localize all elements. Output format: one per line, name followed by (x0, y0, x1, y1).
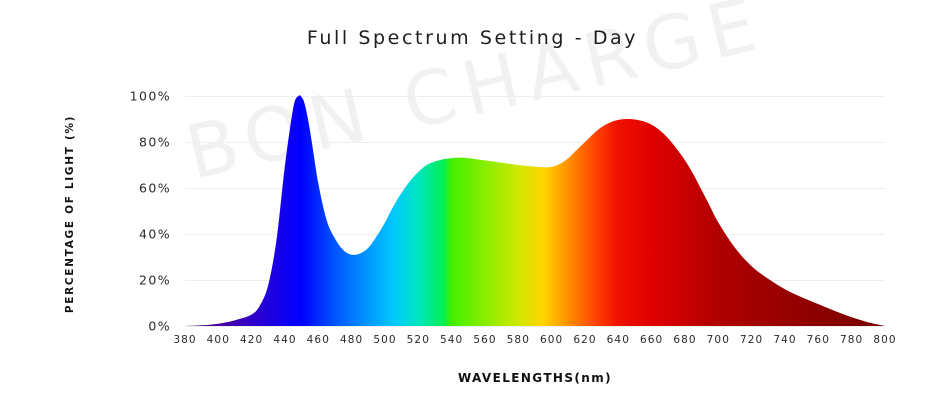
y-axis-title: PERCENTAGE OF LIGHT (%) (64, 84, 76, 344)
x-axis-tick-label: 440 (273, 334, 296, 346)
x-axis-tick-label: 600 (540, 334, 563, 346)
x-axis-tick-label: 580 (507, 334, 530, 346)
y-axis-tick-label: 60% (139, 181, 171, 196)
x-axis-tick-label: 680 (673, 334, 696, 346)
x-axis-tick-label: 760 (807, 334, 830, 346)
x-axis-tick-label: 480 (340, 334, 363, 346)
x-axis-tick-label: 560 (473, 334, 496, 346)
y-axis-tick-label: 40% (139, 227, 171, 242)
x-axis-tick-label: 640 (607, 334, 630, 346)
x-axis-tick-label: 700 (707, 334, 730, 346)
y-axis-tick-label: 20% (139, 273, 171, 288)
x-axis-tick-label: 380 (173, 334, 196, 346)
x-axis-tick-label: 720 (740, 334, 763, 346)
spectrum-area-path (185, 96, 885, 326)
x-axis-tick-label: 520 (407, 334, 430, 346)
x-axis-tick-label: 780 (840, 334, 863, 346)
plot-area: 100%80%60%40%20%0% 380400420440460480500… (185, 96, 885, 326)
spectrum-chart: Full Spectrum Setting - Day PERCENTAGE O… (0, 0, 945, 417)
x-axis-tick-label: 620 (573, 334, 596, 346)
x-axis-tick-label: 500 (373, 334, 396, 346)
x-axis-tick-label: 420 (240, 334, 263, 346)
gridline (185, 326, 885, 327)
page-title: Full Spectrum Setting - Day (0, 27, 945, 49)
y-axis-tick-label: 80% (139, 135, 171, 150)
y-axis-tick-label: 0% (148, 319, 171, 334)
x-axis-tick-label: 740 (773, 334, 796, 346)
x-axis-title: WAVELENGTHS(nm) (185, 371, 885, 385)
y-axis-tick-label: 100% (130, 89, 171, 104)
x-axis-tick-label: 660 (640, 334, 663, 346)
x-axis-tick-label: 460 (307, 334, 330, 346)
x-axis-tick-label: 400 (207, 334, 230, 346)
x-axis-tick-label: 800 (873, 334, 896, 346)
x-axis-tick-label: 540 (440, 334, 463, 346)
